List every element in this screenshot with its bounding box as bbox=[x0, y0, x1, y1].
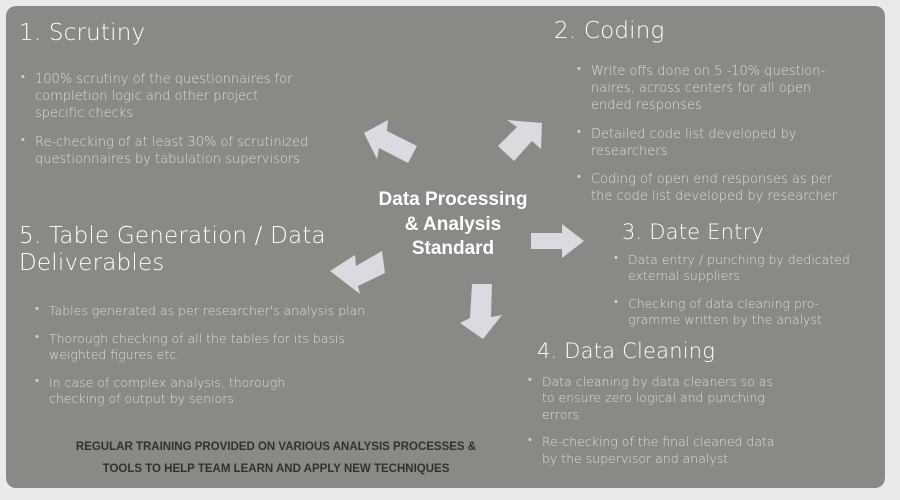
section-scrutiny-bullets: 100% scrutiny of the questionnaires for … bbox=[19, 71, 339, 168]
list-item: Tables generated as per researcher's ana… bbox=[33, 303, 423, 320]
list-item: Coding of open end responses as per the … bbox=[575, 171, 883, 205]
section-coding: 2. Coding Write offs done on 5 -10% ques… bbox=[554, 18, 884, 205]
footer-note: REGULAR TRAINING PROVIDED ON VARIOUS ANA… bbox=[16, 437, 536, 481]
list-item: Re-checking of at least 30% of scrutiniz… bbox=[19, 134, 339, 168]
arrow-down-right-icon bbox=[458, 282, 508, 342]
section-date-entry-bullets: Data entry / punching by dedicated exter… bbox=[612, 252, 885, 329]
list-item: Thorough checking of all the tables for … bbox=[33, 331, 423, 364]
section-scrutiny: 1. Scrutiny 100% scrutiny of the questio… bbox=[19, 20, 359, 168]
page-title: Data Processing & Analysis Standard bbox=[362, 188, 544, 262]
section-coding-heading: 2. Coding bbox=[554, 18, 884, 45]
section-data-cleaning: 4. Data Cleaning Data cleaning by data c… bbox=[526, 339, 885, 467]
section-scrutiny-heading: 1. Scrutiny bbox=[19, 20, 359, 47]
arrow-up-left-icon bbox=[362, 118, 420, 168]
arrow-right-icon bbox=[529, 222, 586, 260]
list-item: Write offs done on 5 -10% question- nair… bbox=[575, 63, 883, 114]
section-coding-bullets: Write offs done on 5 -10% question- nair… bbox=[575, 63, 883, 205]
section-data-cleaning-bullets: Data cleaning by data cleaners so as to … bbox=[526, 374, 856, 468]
arrow-up-right-icon bbox=[488, 112, 546, 164]
list-item: Re-checking of the final cleaned data by… bbox=[526, 434, 856, 467]
section-table-generation-bullets: Tables generated as per researcher's ana… bbox=[33, 303, 423, 408]
slide-canvas: 1. Scrutiny 100% scrutiny of the questio… bbox=[6, 6, 885, 488]
list-item: In case of complex analysis, thorough ch… bbox=[33, 375, 423, 408]
list-item: 100% scrutiny of the questionnaires for … bbox=[19, 71, 339, 122]
section-data-cleaning-heading: 4. Data Cleaning bbox=[537, 339, 885, 364]
arrow-down-left-icon bbox=[328, 249, 386, 295]
list-item: Checking of data cleaning pro- gramme wr… bbox=[612, 296, 885, 329]
list-item: Data entry / punching by dedicated exter… bbox=[612, 252, 885, 285]
list-item: Detailed code list developed by research… bbox=[575, 126, 883, 160]
list-item: Data cleaning by data cleaners so as to … bbox=[526, 374, 856, 424]
section-date-entry-heading: 3. Date Entry bbox=[622, 220, 885, 245]
section-date-entry: 3. Date Entry Data entry / punching by d… bbox=[606, 220, 885, 329]
